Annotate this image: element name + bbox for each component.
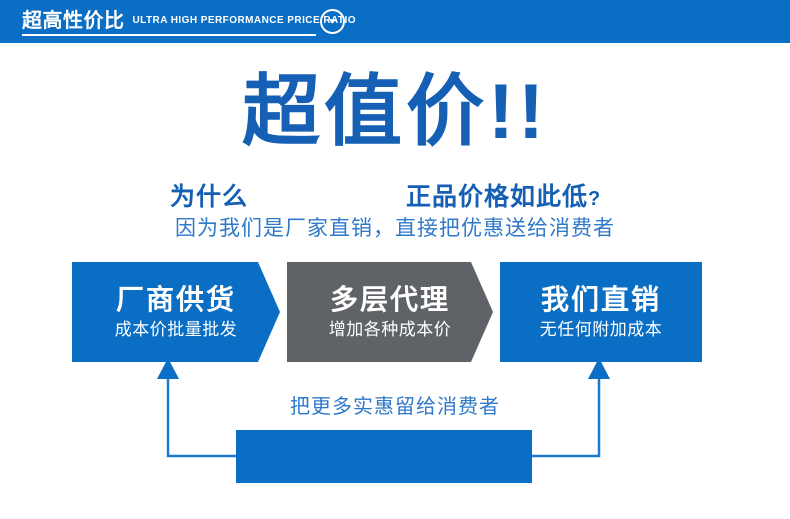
direct-arrow-shape (500, 262, 702, 362)
supplier-arrow-shape (72, 262, 280, 362)
agent-arrow-shape (287, 262, 493, 362)
supply-chain-flow: 厂商供货 成本价批量批发 多层代理 增加各种成本价 我们直销 无任何附加成本 (0, 262, 790, 362)
chain-step-direct: 我们直销 无任何附加成本 (500, 262, 702, 362)
header-title-cn: 超高性价比 (22, 11, 125, 33)
hero-answer: 因为我们是厂家直销，直接把优惠送给消费者 (0, 214, 790, 244)
footer-panel (236, 430, 532, 483)
promo-banner: 超高性价比 ULTRA HIGH PERFORMANCE PRICE RATIO… (0, 0, 790, 519)
question-ask-text: 正品价格如此低 (406, 183, 588, 211)
header-underline (22, 34, 316, 36)
chain-step-supplier: 厂商供货 成本价批量批发 (72, 262, 280, 362)
question-ask: 正品价格如此低? (406, 181, 601, 215)
question-mark: ? (588, 188, 601, 210)
header-bar: 超高性价比 ULTRA HIGH PERFORMANCE PRICE RATIO (0, 0, 790, 43)
question-why: 为什么 (170, 181, 248, 213)
chevron-down-icon[interactable] (320, 9, 345, 34)
hero-headline: 超值价!! (0, 72, 790, 150)
header-title-group: 超高性价比 ULTRA HIGH PERFORMANCE PRICE RATIO (22, 0, 356, 43)
question-row: 为什么 正品价格如此低? (0, 181, 790, 213)
footer-caption: 把更多实惠留给消费者 (0, 394, 790, 420)
chain-step-agent: 多层代理 增加各种成本价 (287, 262, 493, 362)
